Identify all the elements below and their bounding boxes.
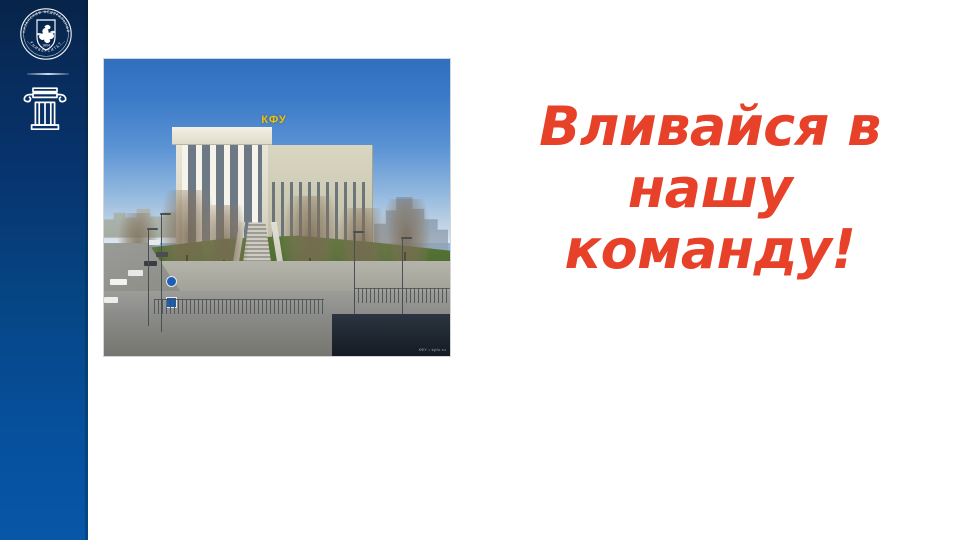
car bbox=[128, 270, 143, 276]
car bbox=[156, 252, 168, 257]
road-sign bbox=[166, 276, 177, 287]
roof-sign-kfu: КФУ bbox=[261, 114, 286, 126]
slide-canvas: КАЗАНСКИЙ ФЕДЕРАЛЬНЫЙ УНИВЕРСИТЕТ 1804 bbox=[0, 0, 960, 540]
photo-content: КФУ bbox=[104, 59, 450, 356]
fence bbox=[354, 288, 450, 303]
sidebar-divider bbox=[27, 73, 69, 75]
photo-watermark: КФУ • kpfu.ru bbox=[419, 347, 446, 352]
brand-sidebar: КАЗАНСКИЙ ФЕДЕРАЛЬНЫЙ УНИВЕРСИТЕТ 1804 bbox=[0, 0, 88, 540]
headline-text: Вливайся в нашу команду! bbox=[492, 96, 928, 281]
kfu-seal-emblem-icon: КАЗАНСКИЙ ФЕДЕРАЛЬНЫЙ УНИВЕРСИТЕТ 1804 bbox=[19, 7, 73, 61]
ionic-column-capital-icon bbox=[19, 85, 71, 133]
sidebar-edge-accent bbox=[85, 0, 88, 540]
street-lamp bbox=[148, 228, 149, 326]
car bbox=[148, 240, 160, 245]
car bbox=[104, 297, 118, 303]
photo-dark-foreground: КФУ • kpfu.ru bbox=[332, 314, 450, 356]
building-pediment bbox=[172, 127, 272, 145]
street-lamp bbox=[402, 237, 403, 317]
svg-text:1804: 1804 bbox=[42, 44, 50, 48]
university-building-photo: КФУ bbox=[103, 58, 451, 357]
fence bbox=[154, 299, 324, 314]
car bbox=[144, 261, 157, 266]
car bbox=[110, 279, 127, 285]
street-lamp bbox=[354, 231, 355, 320]
